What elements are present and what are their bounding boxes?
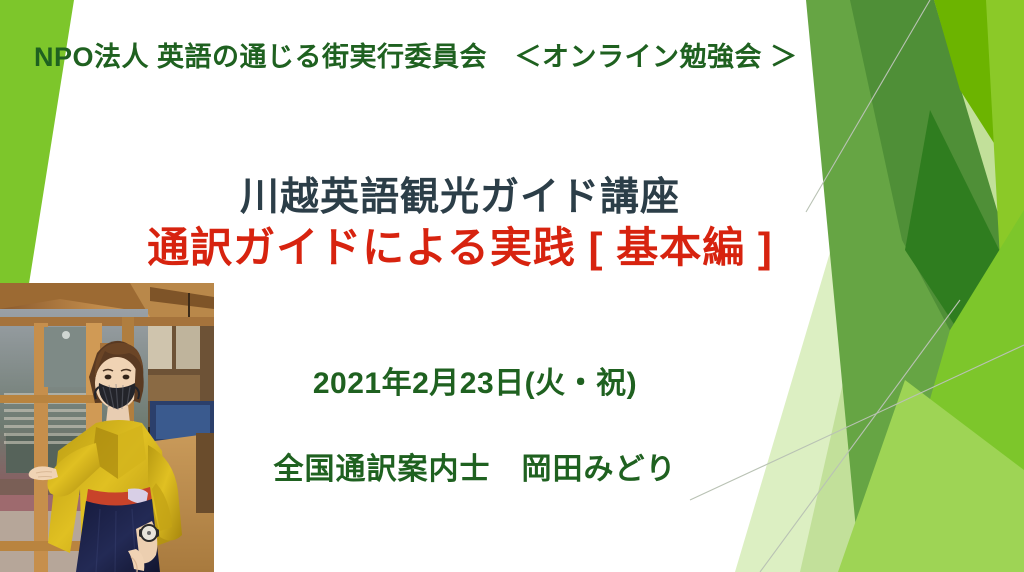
title-block: 川越英語観光ガイド講座 通訳ガイドによる実践 [ 基本編 ] [0, 176, 920, 272]
course-title-line2: 通訳ガイドによる実践 [ 基本編 ] [0, 224, 920, 272]
header-band: NPO法人 英語の通じる街実行委員会 ＜オンライン勉強会 ＞ [0, 28, 1024, 80]
kimono-guide-photo-illustration [0, 283, 214, 572]
presentation-slide: NPO法人 英語の通じる街実行委員会 ＜オンライン勉強会 ＞ 川越英語観光ガイド… [0, 0, 1024, 572]
guide-photo [0, 283, 214, 572]
header-title: NPO法人 英語の通じる街実行委員会 ＜オンライン勉強会 ＞ [34, 35, 798, 74]
course-title-line1: 川越英語観光ガイド講座 [0, 176, 920, 220]
